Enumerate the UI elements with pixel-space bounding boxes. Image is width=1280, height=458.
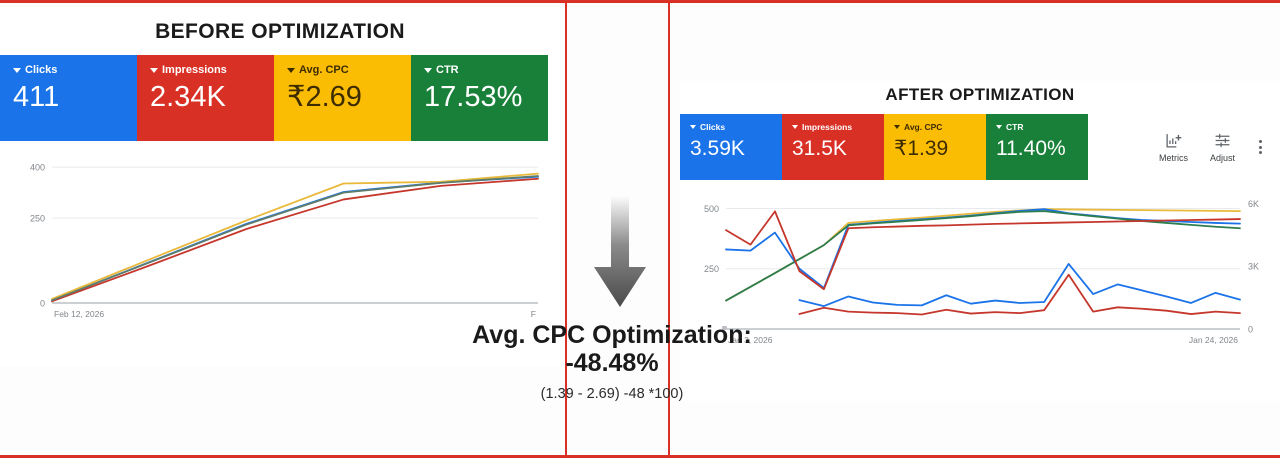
scorecard-avg-cpc-head: Avg. CPC <box>274 55 411 76</box>
x-axis-tick-label: Jan 24, 2026 <box>1189 335 1238 345</box>
scorecard-clicks[interactable]: Clicks 3.59K <box>680 114 782 180</box>
y-axis-tick-label: 0 <box>40 299 45 309</box>
scorecard-avg-cpc-value: ₹1.39 <box>884 132 986 159</box>
scorecard-avg-cpc[interactable]: Avg. CPC ₹1.39 <box>884 114 986 180</box>
scorecard-ctr-value: 11.40% <box>986 132 1088 159</box>
chart-series-line <box>52 174 538 299</box>
optimization-title: Avg. CPC Optimization: <box>452 321 772 349</box>
before-scorecards: Clicks 411 Impressions 2.34K Avg. CPC ₹2… <box>0 55 560 141</box>
scorecard-clicks[interactable]: Clicks 411 <box>0 55 137 141</box>
before-panel: BEFORE OPTIMIZATION Clicks 411 Impressio… <box>0 6 560 366</box>
scorecard-impressions-head: Impressions <box>137 55 274 76</box>
y-axis-right-tick-label: 6K <box>1248 199 1259 209</box>
optimization-formula: (1.39 - 2.69) -48 *100) <box>452 386 772 402</box>
after-scorecards: Clicks 3.59K Impressions 31.5K Avg. CPC … <box>680 114 1280 180</box>
scorecard-clicks-head: Clicks <box>680 114 782 132</box>
optimization-callout: Avg. CPC Optimization: -48.48% (1.39 - 2… <box>452 321 772 402</box>
arrow-down-icon <box>592 195 648 315</box>
caret-down-icon[interactable] <box>996 125 1002 129</box>
metrics-button[interactable]: Metrics <box>1159 132 1188 163</box>
scorecard-avg-cpc-label: Avg. CPC <box>904 122 942 132</box>
scorecard-ctr-value: 17.53% <box>411 76 548 112</box>
caret-down-icon[interactable] <box>424 68 432 73</box>
caret-down-icon[interactable] <box>287 68 295 73</box>
adjust-button[interactable]: Adjust <box>1210 132 1235 163</box>
after-panel-title: AFTER OPTIMIZATION <box>680 81 1280 105</box>
chart-series-line <box>52 177 538 301</box>
y-axis-tick-label: 400 <box>30 163 45 173</box>
scorecard-impressions-value: 31.5K <box>782 132 884 159</box>
scorecard-impressions-head: Impressions <box>782 114 884 132</box>
scorecard-ctr-label: CTR <box>1006 122 1023 132</box>
tune-sliders-icon <box>1214 132 1231 149</box>
adjust-label: Adjust <box>1210 153 1235 163</box>
scorecard-clicks-value: 411 <box>0 76 137 112</box>
caret-down-icon[interactable] <box>894 125 900 129</box>
scorecard-clicks-label: Clicks <box>25 64 57 76</box>
chart-series-line <box>52 179 538 302</box>
caret-down-icon[interactable] <box>792 125 798 129</box>
chart-series-line <box>799 264 1240 306</box>
caret-down-icon[interactable] <box>13 68 21 73</box>
y-axis-tick-label: 500 <box>704 204 719 214</box>
y-axis-right-tick-label: 3K <box>1248 262 1259 272</box>
scorecard-ctr-head: CTR <box>411 55 548 76</box>
scorecard-avg-cpc[interactable]: Avg. CPC ₹2.69 <box>274 55 411 141</box>
before-chart[interactable]: 0250400Feb 12, 2026F <box>0 141 560 341</box>
optimization-percent: -48.48% <box>452 349 772 377</box>
y-axis-tick-label: 250 <box>704 264 719 274</box>
scorecard-impressions[interactable]: Impressions 2.34K <box>137 55 274 141</box>
x-axis-tick-label: F <box>531 309 536 319</box>
scorecard-clicks-value: 3.59K <box>680 132 782 159</box>
kebab-menu-icon[interactable] <box>1257 140 1264 154</box>
scorecard-impressions[interactable]: Impressions 31.5K <box>782 114 884 180</box>
before-panel-title: BEFORE OPTIMIZATION <box>0 6 560 44</box>
chart-series-line <box>52 176 538 300</box>
scorecard-clicks-label: Clicks <box>700 122 725 132</box>
scorecard-ctr-label: CTR <box>436 64 459 76</box>
y-axis-tick-label: 250 <box>30 214 45 224</box>
scorecard-ctr[interactable]: CTR 11.40% <box>986 114 1088 180</box>
scorecard-impressions-value: 2.34K <box>137 76 274 112</box>
scorecard-ctr-head: CTR <box>986 114 1088 132</box>
x-axis-tick-label: Feb 12, 2026 <box>54 309 104 319</box>
scorecard-impressions-label: Impressions <box>162 64 227 76</box>
scorecard-impressions-label: Impressions <box>802 122 852 132</box>
scorecard-avg-cpc-label: Avg. CPC <box>299 64 349 76</box>
before-chart-svg: 0250400Feb 12, 2026F <box>0 141 560 341</box>
scorecard-clicks-head: Clicks <box>0 55 137 76</box>
comparison-slide: BEFORE OPTIMIZATION Clicks 411 Impressio… <box>0 0 1280 458</box>
y-axis-right-tick-label: 0 <box>1248 325 1253 335</box>
caret-down-icon[interactable] <box>150 68 158 73</box>
metrics-label: Metrics <box>1159 153 1188 163</box>
chart-series-line <box>799 275 1240 315</box>
add-chart-icon <box>1165 132 1182 149</box>
scorecard-ctr[interactable]: CTR 17.53% <box>411 55 548 141</box>
scorecard-avg-cpc-head: Avg. CPC <box>884 114 986 132</box>
scorecard-avg-cpc-value: ₹2.69 <box>274 76 411 112</box>
chart-toolbar: Metrics Adjust <box>1088 114 1280 180</box>
caret-down-icon[interactable] <box>690 125 696 129</box>
